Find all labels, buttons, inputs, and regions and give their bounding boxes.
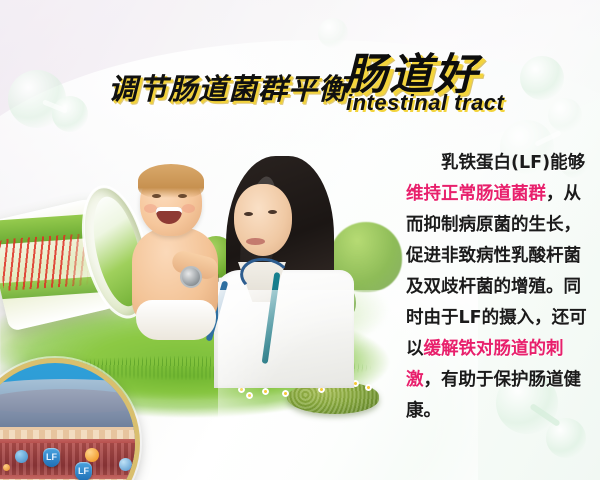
particle-orange <box>3 464 10 471</box>
body-segment-1: 乳铁蛋白(LF)能够 <box>441 153 585 173</box>
lf-badge: LF <box>75 462 92 480</box>
doctor-face <box>234 184 292 256</box>
particle-orange-large <box>85 448 99 462</box>
baby-eye-left <box>152 194 161 198</box>
body-segment-3: ，从而抑制病原菌的生长，促进非致病性乳酸杆菌及双歧杆菌的增殖。同时由于LF的摄入… <box>406 184 587 359</box>
page-subtitle: intestinal tract <box>346 90 504 116</box>
baby-hair <box>138 164 204 198</box>
doctor-eye-right <box>268 210 277 214</box>
photo-baby-and-doctor <box>118 150 348 380</box>
particle-blue-right <box>119 458 132 471</box>
particle-blue-small <box>15 450 28 463</box>
daisy-flower <box>282 390 289 397</box>
poster-canvas: LF LF 调节肠道菌群平衡 肠道好 intestinal tract 乳铁蛋白… <box>0 0 600 480</box>
doctor-lips <box>246 238 265 245</box>
baby-cheek-right <box>182 204 195 213</box>
body-segment-5: ，有助于保护肠道健康。 <box>406 370 581 421</box>
headline-left: 调节肠道菌群平衡 <box>108 66 348 108</box>
intestine-cross-section: LF LF <box>0 427 140 480</box>
baby-diaper <box>136 300 216 340</box>
lf-badge: LF <box>43 448 60 467</box>
tin-label-print <box>0 233 89 291</box>
baby-eye-right <box>178 194 187 198</box>
daisy-flower <box>262 388 269 395</box>
stethoscope-chestpiece <box>180 266 202 288</box>
body-highlight-1: 维持正常肠道菌群 <box>406 184 546 204</box>
daisy-flower <box>365 384 372 391</box>
body-paragraph: 乳铁蛋白(LF)能够维持正常肠道菌群，从而抑制病原菌的生长，促进非致病性乳酸杆菌… <box>406 148 588 427</box>
doctor-eye-left <box>244 212 253 216</box>
intestine-villi-top <box>0 430 140 439</box>
daisy-flower <box>246 392 253 399</box>
